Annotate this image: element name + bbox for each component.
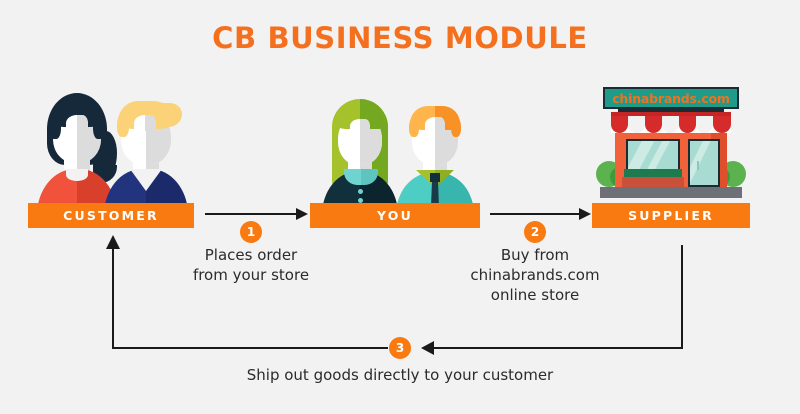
step-badge-3-text: 3	[396, 341, 404, 355]
node-label-you-text: YOU	[377, 208, 413, 223]
hair-part-shade	[145, 115, 156, 131]
step-badge-2: 2	[524, 221, 546, 243]
step-caption-2-line-3: online store	[455, 285, 615, 305]
hair-side-right-icon	[451, 117, 461, 137]
step-badge-3: 3	[389, 337, 411, 359]
arrowhead-up-step3	[106, 235, 120, 249]
window-awning	[624, 169, 682, 177]
node-supplier: chinabrands.com	[592, 85, 750, 227]
connector-bottom-right	[434, 347, 683, 349]
step-caption-3-line-1: Ship out goods directly to your customer	[200, 365, 600, 385]
store-awning-stripe	[628, 113, 645, 133]
node-you: YOU	[310, 85, 480, 227]
store-sign-text: chinabrands.com	[612, 91, 730, 106]
hair-side-left-icon	[117, 113, 129, 137]
step-caption-1-line-1: Places order	[171, 245, 331, 265]
arrowhead-right-step2	[579, 208, 591, 220]
hair-side-left-icon	[49, 113, 61, 139]
button-dot	[358, 189, 363, 194]
tie-knot	[430, 173, 440, 182]
step-caption-2-line-1: Buy from	[455, 245, 615, 265]
store-awning-stripe	[713, 113, 731, 133]
connector-you-to-supplier	[490, 213, 580, 215]
step-caption-2: Buy from chinabrands.com online store	[455, 245, 615, 305]
step-caption-1-line-2: from your store	[171, 265, 331, 285]
store-awning-top	[611, 112, 731, 116]
door-handle	[697, 161, 699, 170]
connector-customer-to-you	[205, 213, 297, 215]
arrowhead-left-step3	[421, 341, 434, 355]
hair-side-left-icon	[409, 117, 419, 137]
you-person-male	[390, 99, 478, 213]
collar-dip	[66, 169, 88, 181]
door-glare	[688, 139, 714, 187]
step-badge-2-text: 2	[531, 225, 539, 239]
store-base	[600, 187, 742, 198]
store-sign: chinabrands.com	[603, 87, 739, 109]
page-title: CB BUSINESS MODULE	[0, 21, 800, 55]
customer-person-male	[100, 97, 190, 213]
connector-bottom-left	[113, 347, 388, 349]
arrowhead-right-step1	[296, 208, 308, 220]
node-label-customer: CUSTOMER	[28, 203, 194, 228]
store-window	[626, 139, 680, 173]
step-caption-2-line-2: chinabrands.com	[455, 265, 615, 285]
store-awning-stripe	[679, 113, 696, 133]
hair-part-shade	[360, 119, 370, 133]
store-awning-stripe	[662, 113, 679, 133]
store-door	[688, 139, 720, 187]
store-awning-stripe	[645, 113, 662, 133]
node-label-supplier-text: SUPPLIER	[628, 208, 714, 223]
connector-supplier-down	[681, 245, 683, 349]
hair-part-shade	[435, 117, 445, 132]
window-ledge	[622, 177, 684, 187]
storefront-icon: chinabrands.com	[592, 85, 750, 205]
step-caption-3: Ship out goods directly to your customer	[200, 365, 600, 385]
hair-part-shade	[77, 115, 88, 131]
node-label-customer-text: CUSTOMER	[63, 208, 159, 223]
step-caption-1: Places order from your store	[171, 245, 331, 285]
store-awning-stripe	[696, 113, 713, 133]
node-customer: CUSTOMER	[28, 85, 194, 227]
infographic-canvas: CB BUSINESS MODULE	[0, 0, 800, 414]
hair-swoop-icon	[156, 103, 182, 127]
store-awning-stripe	[611, 113, 628, 133]
node-label-supplier: SUPPLIER	[592, 203, 750, 228]
node-label-you: YOU	[310, 203, 480, 228]
connector-up-to-customer	[112, 248, 114, 349]
step-badge-1: 1	[240, 221, 262, 243]
step-badge-1-text: 1	[247, 225, 255, 239]
